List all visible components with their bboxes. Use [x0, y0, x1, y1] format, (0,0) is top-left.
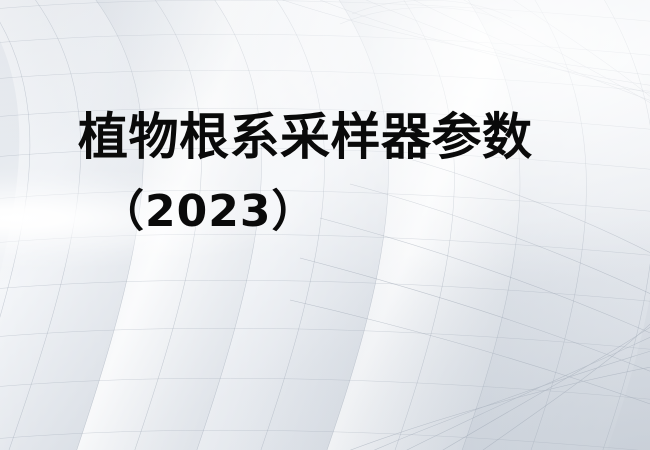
title-slide: 植物根系采样器参数 （2023） [0, 0, 650, 450]
slide-title-line-1: 植物根系采样器参数 [0, 112, 650, 162]
slide-title-block: 植物根系采样器参数 （2023） [0, 112, 650, 234]
slide-title-line-2: （2023） [0, 190, 650, 234]
